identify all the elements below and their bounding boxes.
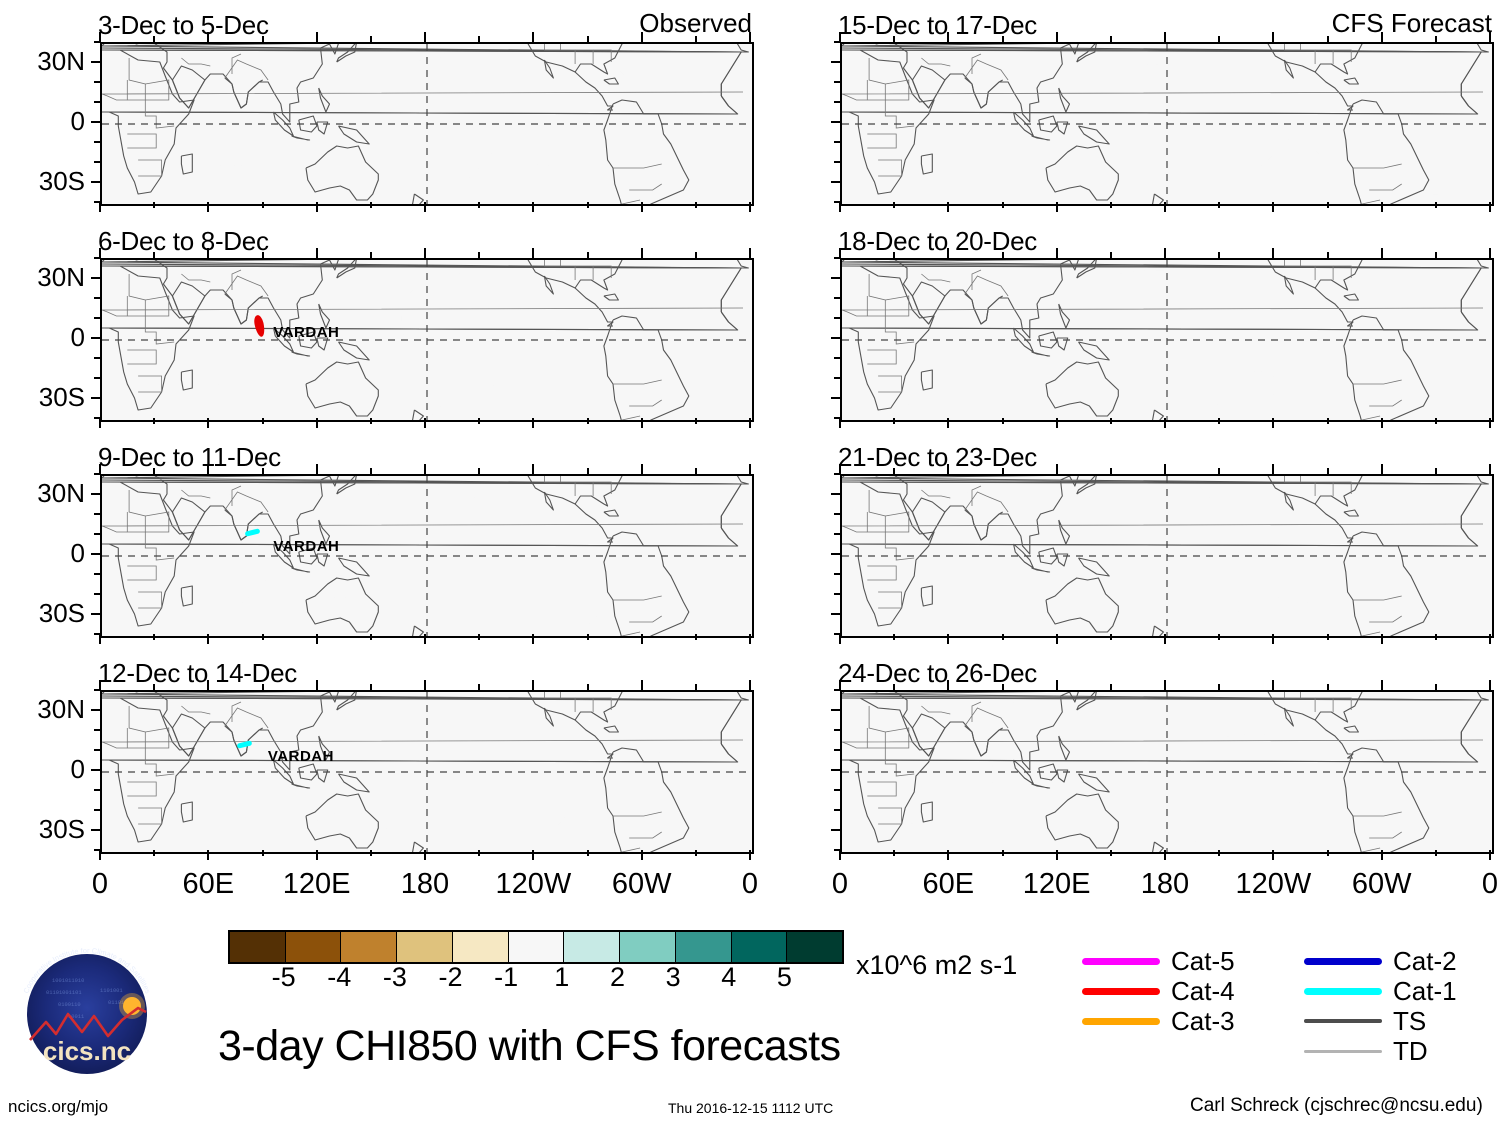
x-tick-top (532, 680, 534, 690)
x-tick (99, 634, 101, 644)
x-tick-top-minor (1327, 684, 1329, 690)
y-axis-label: 30N (0, 478, 85, 509)
y-tick (91, 61, 100, 63)
x-tick-top-minor (1435, 252, 1437, 258)
x-tick-top-minor (695, 468, 697, 474)
x-tick-top (839, 464, 841, 474)
x-tick-top (99, 464, 101, 474)
x-axis-label: 120W (1213, 868, 1333, 901)
x-tick-minor (587, 850, 589, 856)
x-tick-top-minor (1110, 36, 1112, 42)
x-tick-minor (1327, 418, 1329, 424)
x-tick (947, 202, 949, 212)
x-tick-minor (153, 850, 155, 856)
y-tick-minor (94, 573, 100, 575)
x-tick-top-minor (1218, 36, 1220, 42)
y-axis-label: 30S (0, 814, 85, 845)
x-tick-minor (695, 850, 697, 856)
x-tick-top-minor (893, 684, 895, 690)
x-tick (1489, 634, 1491, 644)
x-tick (641, 202, 643, 212)
x-tick-top (532, 464, 534, 474)
x-tick-minor (1218, 418, 1220, 424)
x-axis-label: 0 (780, 868, 900, 901)
x-tick-top (1489, 248, 1491, 258)
x-tick-minor (370, 850, 372, 856)
x-tick-top-minor (1218, 252, 1220, 258)
colorbar-segment (786, 932, 842, 962)
x-tick-minor (695, 418, 697, 424)
x-tick-top-minor (587, 468, 589, 474)
y-tick-minor (94, 809, 100, 811)
legend-item-cat-5: Cat-5 (1082, 948, 1235, 974)
x-tick-top (1272, 464, 1274, 474)
y-tick-minor (94, 789, 100, 791)
y-tick-minor (94, 161, 100, 163)
legend-item-ts: TS (1304, 1008, 1426, 1034)
x-tick-minor (1327, 634, 1329, 640)
x-tick-minor (1110, 202, 1112, 208)
x-tick-top (947, 680, 949, 690)
y-tick (831, 61, 840, 63)
legend-label: Cat-4 (1171, 978, 1235, 1004)
svg-text:0100110: 0100110 (58, 1002, 81, 1008)
x-tick-top (641, 680, 643, 690)
map-obs-2 (100, 258, 754, 422)
legend-item-td: TD (1304, 1038, 1428, 1064)
svg-text:cics.nc: cics.nc (43, 1036, 131, 1066)
colorbar-tick-label: 4 (699, 962, 759, 993)
x-tick-minor (262, 850, 264, 856)
y-tick-minor (94, 357, 100, 359)
x-tick-top (641, 32, 643, 42)
legend-label: TD (1393, 1038, 1428, 1064)
map-obs-1 (100, 42, 754, 206)
x-tick-minor (1110, 418, 1112, 424)
x-tick-top (99, 680, 101, 690)
x-axis-label: 60W (582, 868, 702, 901)
x-tick-top (1272, 248, 1274, 258)
x-tick-top (749, 464, 751, 474)
colorbar-segment (396, 932, 452, 962)
x-tick-top (749, 248, 751, 258)
x-tick-top (641, 464, 643, 474)
x-tick-minor (1327, 202, 1329, 208)
x-axis-label: 180 (1105, 868, 1225, 901)
y-tick (831, 181, 840, 183)
colorbar-segment (508, 932, 564, 962)
x-tick (207, 202, 209, 212)
x-tick (641, 850, 643, 860)
x-tick-top (316, 32, 318, 42)
x-tick (1381, 202, 1383, 212)
x-tick-minor (478, 202, 480, 208)
x-tick-minor (1002, 634, 1004, 640)
x-tick-minor (695, 202, 697, 208)
x-tick (1272, 418, 1274, 428)
y-axis-label: 0 (0, 754, 85, 785)
x-tick-top-minor (587, 684, 589, 690)
x-tick-top-minor (1002, 36, 1004, 42)
x-tick (839, 202, 841, 212)
colorbar (228, 930, 844, 964)
x-tick-top-minor (153, 684, 155, 690)
x-tick (316, 202, 318, 212)
storm-label-vardah: VARDAH (273, 538, 339, 555)
x-tick-top-minor (893, 36, 895, 42)
y-tick (91, 829, 100, 831)
x-tick (749, 634, 751, 644)
foot-right: Carl Schreck (cjschrec@ncsu.edu) (1190, 1095, 1483, 1117)
x-tick-minor (1435, 850, 1437, 856)
panel-title: 21-Dec to 23-Dec (838, 442, 1037, 473)
x-tick-minor (1002, 418, 1004, 424)
colorbar-tick-label: 5 (754, 962, 814, 993)
x-tick (1164, 418, 1166, 428)
map-obs-4 (100, 690, 754, 854)
x-tick-minor (1002, 850, 1004, 856)
y-axis-label: 0 (0, 106, 85, 137)
legend-line-swatch (1304, 988, 1382, 995)
x-axis-label: 60E (148, 868, 268, 901)
x-tick (316, 418, 318, 428)
x-tick (207, 850, 209, 860)
y-tick (91, 277, 100, 279)
x-tick-top (316, 680, 318, 690)
x-tick-top (316, 464, 318, 474)
x-tick (532, 418, 534, 428)
colorbar-tick-label: -5 (254, 962, 314, 993)
panel-title: 9-Dec to 11-Dec (98, 442, 281, 473)
x-tick-minor (153, 202, 155, 208)
x-tick-minor (1218, 634, 1220, 640)
x-tick-top (424, 464, 426, 474)
x-tick (207, 418, 209, 428)
y-tick (831, 553, 840, 555)
x-tick-top-minor (695, 684, 697, 690)
x-tick-minor (695, 634, 697, 640)
x-tick (1381, 418, 1383, 428)
x-axis-label: 120E (997, 868, 1117, 901)
legend-item-cat-4: Cat-4 (1082, 978, 1235, 1004)
y-tick-minor (834, 357, 840, 359)
x-tick-minor (1435, 418, 1437, 424)
legend-line-swatch (1304, 958, 1382, 965)
y-tick-minor (94, 317, 100, 319)
y-tick (831, 277, 840, 279)
legend-item-cat-2: Cat-2 (1304, 948, 1457, 974)
colorbar-tick-label: 1 (532, 962, 592, 993)
x-tick-top (839, 32, 841, 42)
colorbar-segment (619, 932, 675, 962)
y-tick (831, 829, 840, 831)
colorbar-units: x10^6 m2 s-1 (856, 950, 1017, 981)
y-tick-minor (94, 513, 100, 515)
map-cfs-2 (840, 258, 1494, 422)
y-tick (91, 121, 100, 123)
x-tick-minor (370, 418, 372, 424)
x-tick (424, 202, 426, 212)
x-tick-top (532, 248, 534, 258)
x-tick-minor (893, 202, 895, 208)
x-tick (1489, 850, 1491, 860)
x-axis-label: 0 (1430, 868, 1510, 901)
x-tick-minor (370, 634, 372, 640)
y-axis-label: 30S (0, 382, 85, 413)
y-tick-minor (834, 789, 840, 791)
y-tick-minor (834, 161, 840, 163)
x-tick-top (749, 680, 751, 690)
x-tick (316, 634, 318, 644)
x-tick-top-minor (1327, 252, 1329, 258)
colorbar-tick-label: -4 (309, 962, 369, 993)
observed-column-header: Observed (520, 8, 752, 39)
colorbar-segment (452, 932, 508, 962)
colorbar-segment (285, 932, 341, 962)
x-tick-top (1164, 680, 1166, 690)
legend-line-swatch (1082, 958, 1160, 965)
legend-line-swatch (1082, 988, 1160, 995)
x-tick-top-minor (262, 252, 264, 258)
x-tick (1381, 634, 1383, 644)
x-tick-top (424, 680, 426, 690)
legend-item-cat-3: Cat-3 (1082, 1008, 1235, 1034)
y-tick-minor (94, 593, 100, 595)
x-tick (839, 850, 841, 860)
x-tick (424, 850, 426, 860)
x-tick-minor (587, 634, 589, 640)
x-tick (1056, 418, 1058, 428)
x-tick-top (1381, 32, 1383, 42)
map-cfs-4 (840, 690, 1494, 854)
colorbar-tick-label: 2 (587, 962, 647, 993)
x-tick-top (1164, 248, 1166, 258)
x-tick-top (1272, 680, 1274, 690)
x-tick-top-minor (1002, 252, 1004, 258)
x-tick-minor (893, 850, 895, 856)
y-axis-label: 30N (0, 694, 85, 725)
storm-label-vardah: VARDAH (268, 748, 334, 765)
y-tick (91, 613, 100, 615)
x-tick-top-minor (262, 468, 264, 474)
colorbar-tick-label: 3 (643, 962, 703, 993)
y-tick-minor (834, 297, 840, 299)
x-tick-top (947, 32, 949, 42)
y-tick-minor (834, 317, 840, 319)
y-tick (91, 493, 100, 495)
x-tick-top (207, 464, 209, 474)
x-tick-minor (1110, 850, 1112, 856)
x-tick (1164, 850, 1166, 860)
y-tick (91, 181, 100, 183)
legend-item-cat-1: Cat-1 (1304, 978, 1457, 1004)
x-tick-minor (478, 418, 480, 424)
x-tick-top (1381, 248, 1383, 258)
svg-text:1101001: 1101001 (100, 988, 123, 994)
x-tick-minor (478, 850, 480, 856)
y-tick (91, 337, 100, 339)
x-tick-top (207, 248, 209, 258)
x-tick-top (424, 32, 426, 42)
legend-label: Cat-1 (1393, 978, 1457, 1004)
x-tick-top (1164, 464, 1166, 474)
x-tick (641, 418, 643, 428)
y-tick-minor (94, 533, 100, 535)
legend-label: TS (1393, 1008, 1426, 1034)
x-tick-minor (370, 202, 372, 208)
y-tick-minor (834, 377, 840, 379)
x-tick (1164, 202, 1166, 212)
x-tick-top-minor (153, 36, 155, 42)
x-tick (316, 850, 318, 860)
x-tick-top (1489, 32, 1491, 42)
svg-text:1001011010: 1001011010 (52, 978, 84, 984)
colorbar-segment (563, 932, 619, 962)
x-tick-top-minor (1435, 684, 1437, 690)
y-tick-minor (94, 377, 100, 379)
y-tick-minor (834, 533, 840, 535)
colorbar-segment (340, 932, 396, 962)
legend-label: Cat-2 (1393, 948, 1457, 974)
x-tick-top-minor (893, 468, 895, 474)
y-tick-minor (94, 749, 100, 751)
y-tick-minor (834, 809, 840, 811)
x-tick-top-minor (478, 468, 480, 474)
x-tick-top (839, 680, 841, 690)
y-tick-minor (834, 593, 840, 595)
colorbar-tick-label: -3 (365, 962, 425, 993)
y-axis-label: 0 (0, 538, 85, 569)
y-tick (91, 709, 100, 711)
x-tick-minor (1218, 850, 1220, 856)
x-tick-top (1056, 248, 1058, 258)
y-tick (831, 397, 840, 399)
x-tick (424, 418, 426, 428)
x-tick-top (532, 32, 534, 42)
y-axis-label: 0 (0, 322, 85, 353)
x-tick (641, 634, 643, 644)
x-tick-minor (262, 202, 264, 208)
y-tick-minor (834, 101, 840, 103)
x-tick-top-minor (695, 36, 697, 42)
y-tick-minor (94, 729, 100, 731)
legend-label: Cat-3 (1171, 1008, 1235, 1034)
x-tick-top (947, 248, 949, 258)
y-tick (831, 613, 840, 615)
x-tick (1272, 202, 1274, 212)
x-tick-minor (153, 634, 155, 640)
y-tick (91, 769, 100, 771)
map-obs-3 (100, 474, 754, 638)
y-tick (831, 121, 840, 123)
cics-nc-logo: 1001011010 01101001101 0100110 10011 110… (12, 948, 162, 1076)
foot-left[interactable]: ncics.org/mjo (8, 1097, 108, 1117)
x-tick (839, 634, 841, 644)
y-tick (831, 337, 840, 339)
panel-title: 18-Dec to 20-Dec (838, 226, 1037, 257)
x-tick-top-minor (153, 468, 155, 474)
x-tick-minor (153, 418, 155, 424)
panel-title: 12-Dec to 14-Dec (98, 658, 297, 689)
x-tick-top (316, 248, 318, 258)
x-tick (1164, 634, 1166, 644)
storm-label-vardah: VARDAH (273, 324, 339, 341)
x-tick (532, 850, 534, 860)
map-cfs-1 (840, 42, 1494, 206)
x-tick-top (1272, 32, 1274, 42)
x-tick-minor (587, 202, 589, 208)
x-tick (1272, 634, 1274, 644)
x-tick (947, 418, 949, 428)
x-tick-top-minor (478, 684, 480, 690)
x-tick-top (1489, 464, 1491, 474)
x-tick-minor (1435, 202, 1437, 208)
foot-center: Thu 2016-12-15 1112 UTC (668, 1100, 833, 1116)
x-tick-top-minor (478, 36, 480, 42)
y-axis-label: 30S (0, 598, 85, 629)
map-cfs-3 (840, 474, 1494, 638)
x-tick (99, 418, 101, 428)
legend-line-swatch (1304, 1050, 1382, 1053)
x-tick-top (1381, 680, 1383, 690)
x-tick-minor (1435, 634, 1437, 640)
x-tick-top-minor (587, 36, 589, 42)
x-tick-top-minor (1435, 36, 1437, 42)
y-tick (91, 553, 100, 555)
x-tick (749, 850, 751, 860)
x-axis-label: 60E (888, 868, 1008, 901)
x-tick (1489, 418, 1491, 428)
x-axis-label: 60W (1322, 868, 1442, 901)
x-tick-minor (1327, 850, 1329, 856)
x-tick-top (1056, 464, 1058, 474)
x-tick-top-minor (370, 252, 372, 258)
panel-title: 15-Dec to 17-Dec (838, 10, 1037, 41)
x-tick-top-minor (262, 36, 264, 42)
y-axis-label: 30N (0, 262, 85, 293)
x-tick-top (1381, 464, 1383, 474)
svg-text:01101001101: 01101001101 (46, 990, 82, 996)
y-tick-minor (834, 749, 840, 751)
x-tick (749, 418, 751, 428)
x-tick-minor (1002, 202, 1004, 208)
panel-title: 6-Dec to 8-Dec (98, 226, 269, 257)
x-tick-minor (262, 418, 264, 424)
y-tick (91, 397, 100, 399)
y-tick-minor (94, 81, 100, 83)
colorbar-tick-label: -2 (421, 962, 481, 993)
x-tick-top (99, 248, 101, 258)
x-tick-top (1489, 680, 1491, 690)
x-tick-top-minor (1435, 468, 1437, 474)
x-tick (207, 634, 209, 644)
x-tick-top (641, 248, 643, 258)
x-tick (749, 202, 751, 212)
y-tick-minor (834, 141, 840, 143)
x-tick-minor (893, 418, 895, 424)
x-tick-top-minor (1110, 684, 1112, 690)
legend-label: Cat-5 (1171, 948, 1235, 974)
x-tick-top-minor (1327, 36, 1329, 42)
x-tick-top (1056, 680, 1058, 690)
main-title: 3-day CHI850 with CFS forecasts (218, 1022, 841, 1071)
x-tick-top-minor (370, 36, 372, 42)
y-tick-minor (834, 729, 840, 731)
x-tick-top-minor (695, 252, 697, 258)
forecast-column-header: CFS Forecast (1260, 8, 1492, 39)
x-tick (839, 418, 841, 428)
x-tick (99, 850, 101, 860)
